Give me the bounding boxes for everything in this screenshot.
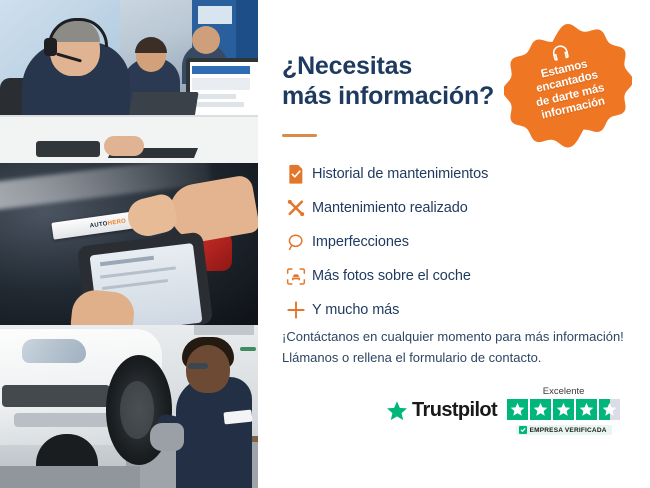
star-icon — [533, 402, 548, 417]
tools-cross-glyph — [286, 198, 306, 218]
page-title: ¿Necesitas más información? — [282, 52, 532, 111]
ruler-brand-part-a: AUTO — [89, 220, 108, 228]
verified-label: EMPRESA VERIFICADA — [530, 427, 607, 434]
monitor-screen-line — [192, 94, 236, 99]
contact-copy: ¡Contáctanos en cualquier momento para m… — [282, 326, 634, 368]
star-icon — [602, 402, 617, 417]
feature-item-imperfections: Imperfecciones — [280, 226, 610, 258]
ruler-brand-part-b: HERO — [107, 218, 126, 227]
check-glyph — [520, 427, 526, 433]
plus-glyph — [286, 300, 306, 320]
workshop-shelf — [194, 325, 254, 335]
star-filled — [576, 399, 597, 420]
feature-item-much-more: Y mucho más — [280, 294, 610, 326]
trustpilot-star-icon — [386, 400, 408, 422]
car-lift-platform — [0, 466, 140, 488]
mechanic-tyre-check-photo — [0, 325, 258, 488]
feature-item-maintenance-history: Historial de mantenimientos — [280, 158, 610, 190]
check-icon — [519, 426, 527, 434]
monitor-screen-row — [192, 78, 250, 90]
content-panel: ¿Necesitas más información? Estamos enca… — [258, 0, 650, 488]
magnifier-icon — [280, 230, 312, 254]
trustpilot-wordmark: Trustpilot — [412, 399, 497, 422]
feature-item-maintenance-done: Mantenimiento realizado — [280, 192, 610, 224]
verified-company-badge: EMPRESA VERIFICADA — [516, 425, 612, 435]
star-icon — [510, 402, 525, 417]
safety-glasses — [188, 363, 208, 369]
trustpilot-score: Excelente — [507, 386, 620, 435]
trustpilot-logo[interactable]: Trustpilot — [386, 399, 497, 422]
workshop-hose — [240, 347, 256, 351]
agent-one-hand — [104, 136, 144, 156]
car-scan-glyph — [286, 267, 306, 286]
star-icon — [579, 402, 594, 417]
car-bumper-vent — [14, 413, 110, 427]
star-icon — [556, 402, 571, 417]
agent-three-head — [192, 26, 220, 54]
document-check-glyph — [288, 164, 305, 184]
monitor-screen-line — [192, 102, 244, 107]
feature-label: Imperfecciones — [312, 234, 409, 250]
agent-two-hair — [135, 37, 167, 53]
desk-tablet — [36, 141, 100, 157]
title-divider — [282, 134, 317, 137]
mechanic-glove — [150, 423, 184, 451]
feature-label: Historial de mantenimientos — [312, 166, 488, 182]
rating-label: Excelente — [543, 386, 585, 397]
mechanic-head — [186, 345, 230, 393]
magnifier-glyph — [287, 233, 306, 252]
tyre-rim — [120, 381, 154, 439]
plus-icon — [280, 298, 312, 322]
autohero-ruler-label: AUTOHERO — [89, 218, 126, 229]
star-filled — [553, 399, 574, 420]
feature-label: Y mucho más — [312, 302, 399, 318]
star-rating — [507, 399, 620, 420]
document-check-icon — [280, 162, 312, 186]
call-centre-agents-photo — [0, 0, 258, 163]
headline-line-two: más información? — [282, 82, 532, 112]
photo-collage: AUTOHERO — [0, 0, 258, 488]
star-filled — [507, 399, 528, 420]
wall-panel-secondary — [236, 0, 258, 60]
car-headlight — [22, 339, 86, 363]
tools-cross-icon — [280, 196, 312, 220]
feature-list: Historial de mantenimientos Mantenimient… — [280, 158, 610, 328]
contact-copy-line-two: Llámanos o rellena el formulario de cont… — [282, 347, 634, 368]
feature-label: Mantenimiento realizado — [312, 200, 468, 216]
feature-item-more-photos: Más fotos sobre el coche — [280, 260, 610, 292]
trustpilot-rating[interactable]: Trustpilot Excelente — [386, 386, 620, 435]
wall-poster — [198, 6, 232, 24]
contact-copy-line-one: ¡Contáctanos en cualquier momento para m… — [282, 326, 634, 347]
car-grille — [2, 385, 110, 407]
monitor-screen-header — [192, 66, 250, 74]
headset-earcup — [44, 38, 57, 56]
car-scan-icon — [280, 264, 312, 288]
promo-card: AUTOHERO — [0, 0, 650, 488]
support-badge: Estamos encantados de darte más informac… — [504, 22, 632, 150]
badge-text: Estamos encantados de darte más informac… — [529, 56, 609, 124]
feature-label: Más fotos sobre el coche — [312, 268, 471, 284]
car-inspection-ruler-photo: AUTOHERO — [0, 163, 258, 326]
star-filled — [530, 399, 551, 420]
star-half — [599, 399, 620, 420]
